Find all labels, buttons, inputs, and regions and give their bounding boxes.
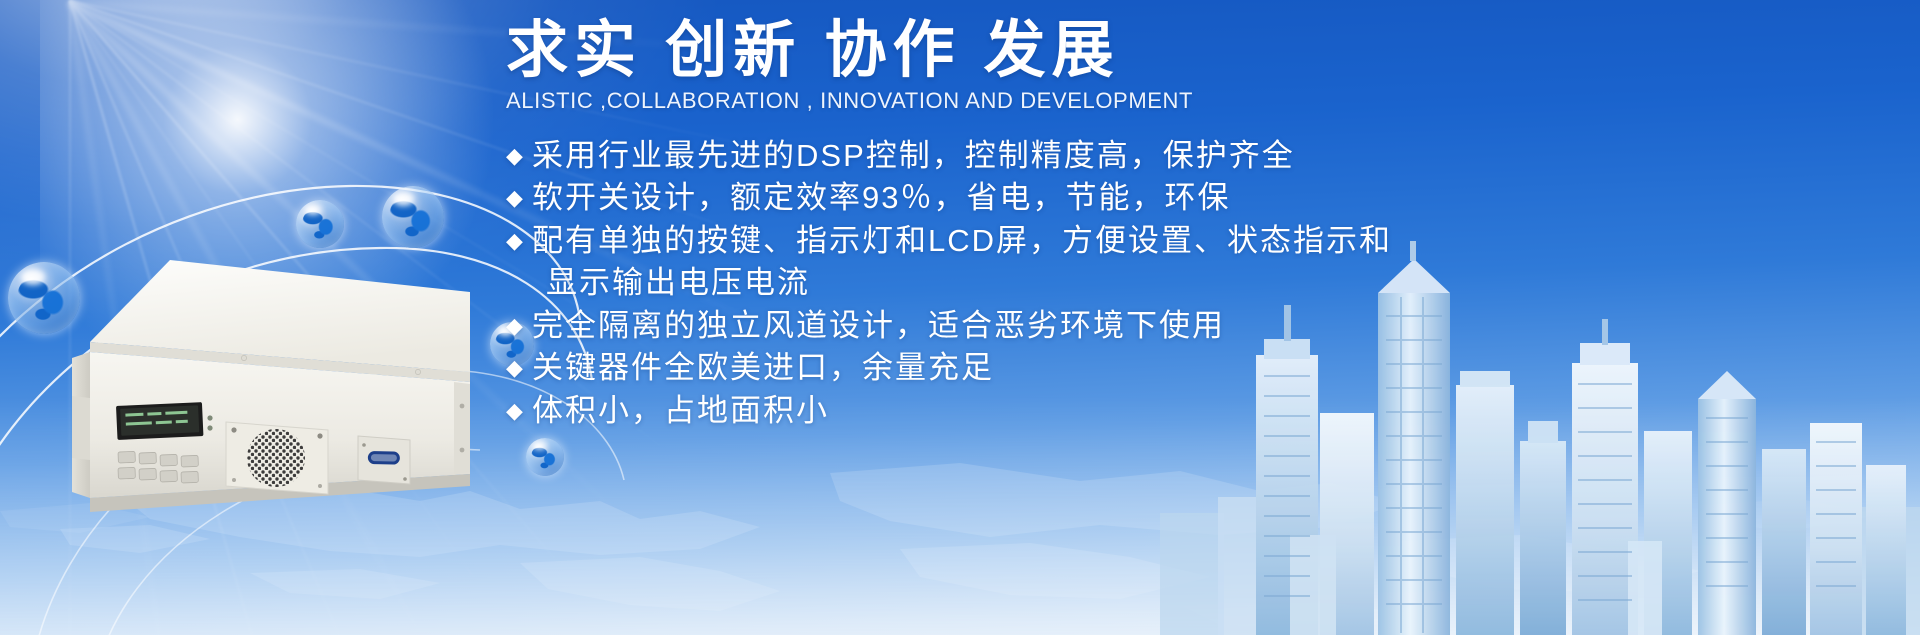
feature-item-label: 完全隔离的独立风道设计，适合恶劣环境下使用 <box>532 305 1225 347</box>
feature-item: ◆显示输出电压电流 <box>506 262 1656 304</box>
diamond-bullet-icon: ◆ <box>506 305 532 347</box>
diamond-bullet-icon: ◆ <box>506 220 532 262</box>
rack-mount-power-supply <box>58 246 488 526</box>
feature-item-label: 显示输出电压电流 <box>532 262 810 304</box>
feature-item: ◆软开关设计，额定效率93％，省电，节能，环保 <box>506 177 1656 219</box>
subtitle: ALISTIC ,COLLABORATION , INNOVATION AND … <box>506 88 1656 114</box>
feature-item-label: 关键器件全欧美进口，余量充足 <box>532 347 994 389</box>
diamond-bullet-icon: ◆ <box>506 135 532 177</box>
banner-copy: 求实 创新 协作 发展 ALISTIC ,COLLABORATION , INN… <box>506 18 1656 432</box>
feature-item: ◆配有单独的按键、指示灯和LCD屏，方便设置、状态指示和 <box>506 220 1656 262</box>
feature-item: ◆完全隔离的独立风道设计，适合恶劣环境下使用 <box>506 305 1656 347</box>
diamond-bullet-icon: ◆ <box>506 390 532 432</box>
diamond-bullet-icon: ◆ <box>506 347 532 389</box>
feature-list: ◆采用行业最先进的DSP控制，控制精度高，保护齐全◆软开关设计，额定效率93％，… <box>506 135 1656 432</box>
feature-item: ◆体积小，占地面积小 <box>506 390 1656 432</box>
page-title: 求实 创新 协作 发展 <box>506 18 1656 84</box>
feature-item: ◆采用行业最先进的DSP控制，控制精度高，保护齐全 <box>506 135 1656 177</box>
promo-banner: 求实 创新 协作 发展 ALISTIC ,COLLABORATION , INN… <box>0 0 1920 635</box>
globe-top <box>382 186 444 248</box>
feature-item-label: 采用行业最先进的DSP控制，控制精度高，保护齐全 <box>532 135 1295 177</box>
feature-item: ◆关键器件全欧美进口，余量充足 <box>506 347 1656 389</box>
feature-item-label: 软开关设计，额定效率93％，省电，节能，环保 <box>532 177 1230 219</box>
diamond-bullet-icon: ◆ <box>506 177 532 219</box>
globe-upper <box>296 200 344 248</box>
feature-item-label: 体积小，占地面积小 <box>532 390 829 432</box>
globe-bottom <box>526 438 564 476</box>
feature-item-label: 配有单独的按键、指示灯和LCD屏，方便设置、状态指示和 <box>532 220 1392 262</box>
